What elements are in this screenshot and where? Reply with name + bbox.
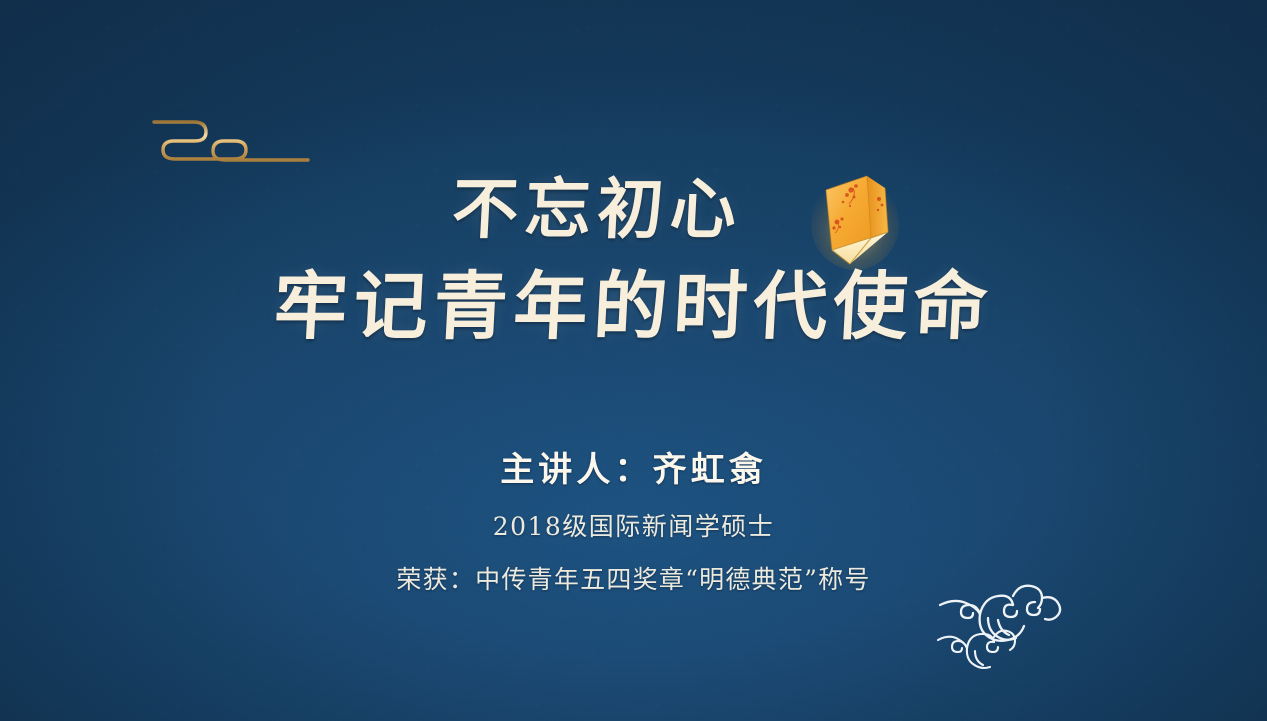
gold-stepped-line-ornament	[152, 108, 312, 180]
slide-title: 不忘初心 牢记青年的时代使命	[0, 176, 1267, 344]
presentation-slide: 不忘初心 牢记青年的时代使命 主讲人：齐虹翕 2018级国际新闻学硕士 荣获：中…	[0, 0, 1267, 721]
presenter-info: 主讲人：齐虹翕 2018级国际新闻学硕士 荣获：中传青年五四奖章“明德典范”称号	[0, 442, 1267, 596]
presenter-award-line: 荣获：中传青年五四奖章“明德典范”称号	[0, 560, 1267, 596]
presenter-degree-line: 2018级国际新闻学硕士	[0, 507, 1267, 543]
title-line-1: 不忘初心	[0, 176, 1267, 242]
title-line-2: 牢记青年的时代使命	[0, 270, 1267, 344]
presenter-name-line: 主讲人：齐虹翕	[0, 442, 1267, 491]
